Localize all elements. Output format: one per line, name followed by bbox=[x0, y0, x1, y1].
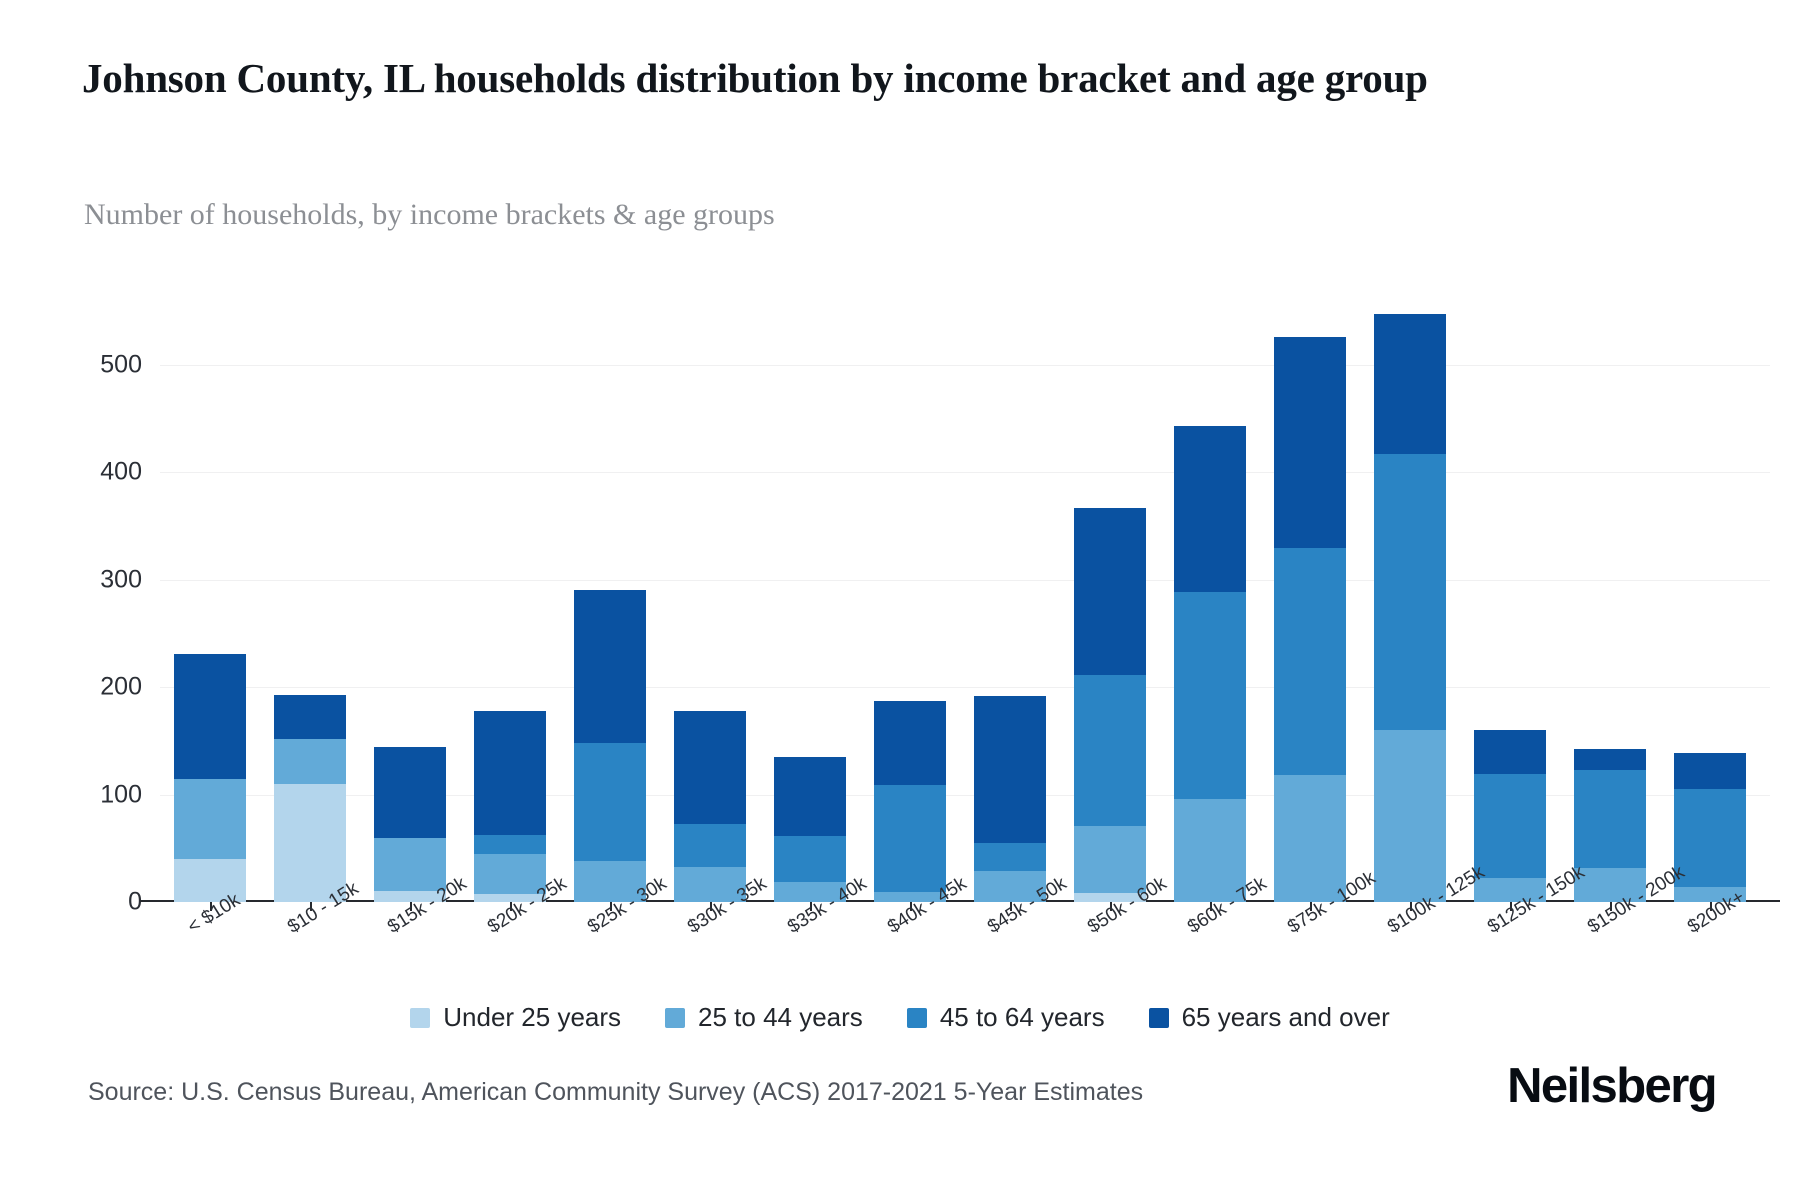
bar-segment[interactable] bbox=[1274, 337, 1346, 549]
brand-logo: Neilsberg bbox=[1507, 1058, 1716, 1114]
bar-stack[interactable] bbox=[974, 696, 1046, 902]
bar-segment[interactable] bbox=[1574, 770, 1646, 868]
bar-segment[interactable] bbox=[1274, 548, 1346, 775]
legend-swatch-icon bbox=[665, 1008, 685, 1028]
y-axis-tick-label: 500 bbox=[32, 350, 142, 379]
bar-segment[interactable] bbox=[474, 711, 546, 836]
bar-stack[interactable] bbox=[674, 711, 746, 902]
bar-stack[interactable] bbox=[1374, 314, 1446, 902]
y-axis-tick-label: 0 bbox=[32, 888, 142, 917]
bar-segment[interactable] bbox=[374, 747, 446, 837]
bar-segment[interactable] bbox=[874, 785, 946, 893]
legend-item[interactable]: 25 to 44 years bbox=[665, 1002, 863, 1033]
bar-segment[interactable] bbox=[174, 779, 246, 859]
y-axis-tick-label: 200 bbox=[32, 673, 142, 702]
legend-item[interactable]: Under 25 years bbox=[410, 1002, 621, 1033]
bar-stack[interactable] bbox=[274, 695, 346, 902]
bar-segment[interactable] bbox=[374, 838, 446, 892]
bar-segment[interactable] bbox=[1674, 789, 1746, 887]
legend-item[interactable]: 65 years and over bbox=[1149, 1002, 1390, 1033]
bar-stack[interactable] bbox=[774, 757, 846, 902]
bar-segment[interactable] bbox=[574, 743, 646, 861]
bar-segment[interactable] bbox=[1174, 592, 1246, 798]
y-axis-tick-label: 300 bbox=[32, 565, 142, 594]
bar-stack[interactable] bbox=[1174, 426, 1246, 902]
bar-segment[interactable] bbox=[1074, 675, 1146, 826]
bar-segment[interactable] bbox=[1474, 774, 1546, 878]
bar-segment[interactable] bbox=[1374, 454, 1446, 730]
legend-swatch-icon bbox=[907, 1008, 927, 1028]
plot-area: 0100200300400500 < $10k$10 - 15k$15k - 2… bbox=[160, 300, 1760, 902]
page-title: Johnson County, IL households distributi… bbox=[82, 52, 1642, 104]
bar-stack[interactable] bbox=[1274, 337, 1346, 902]
y-axis-tick-label: 100 bbox=[32, 780, 142, 809]
bar-segment[interactable] bbox=[1374, 730, 1446, 902]
bar-segment[interactable] bbox=[674, 824, 746, 867]
legend-swatch-icon bbox=[410, 1008, 430, 1028]
bar-stack[interactable] bbox=[174, 654, 246, 902]
bar-segment[interactable] bbox=[274, 695, 346, 739]
legend-item[interactable]: 45 to 64 years bbox=[907, 1002, 1105, 1033]
legend-item-label: 65 years and over bbox=[1182, 1002, 1390, 1033]
bar-segment[interactable] bbox=[1574, 749, 1646, 769]
bar-segment[interactable] bbox=[174, 654, 246, 780]
bar-segment[interactable] bbox=[574, 590, 646, 743]
bar-stack[interactable] bbox=[474, 711, 546, 902]
legend-item-label: 25 to 44 years bbox=[698, 1002, 863, 1033]
bar-series-container bbox=[160, 300, 1760, 902]
bar-segment[interactable] bbox=[774, 757, 846, 837]
bar-segment[interactable] bbox=[1474, 730, 1546, 774]
bar-segment[interactable] bbox=[674, 711, 746, 824]
bar-stack[interactable] bbox=[574, 590, 646, 902]
bar-stack[interactable] bbox=[874, 701, 946, 902]
bar-segment[interactable] bbox=[774, 836, 846, 881]
bar-segment[interactable] bbox=[874, 701, 946, 785]
chart-subtitle: Number of households, by income brackets… bbox=[84, 196, 1484, 234]
legend-swatch-icon bbox=[1149, 1008, 1169, 1028]
bar-stack[interactable] bbox=[374, 747, 446, 902]
bar-segment[interactable] bbox=[274, 784, 346, 902]
bar-segment[interactable] bbox=[974, 696, 1046, 843]
bar-segment[interactable] bbox=[1174, 426, 1246, 593]
bar-stack[interactable] bbox=[1074, 508, 1146, 903]
legend-item-label: Under 25 years bbox=[443, 1002, 621, 1033]
bar-segment[interactable] bbox=[274, 739, 346, 784]
bar-segment[interactable] bbox=[474, 835, 546, 853]
bar-segment[interactable] bbox=[1374, 314, 1446, 454]
bar-segment[interactable] bbox=[974, 843, 1046, 871]
y-axis-tick-label: 400 bbox=[32, 458, 142, 487]
chart-page: Johnson County, IL households distributi… bbox=[0, 0, 1800, 1200]
bar-segment[interactable] bbox=[1274, 775, 1346, 902]
source-note: Source: U.S. Census Bureau, American Com… bbox=[88, 1078, 1143, 1107]
legend-item-label: 45 to 64 years bbox=[940, 1002, 1105, 1033]
chart-legend: Under 25 years25 to 44 years45 to 64 yea… bbox=[0, 1002, 1800, 1033]
bar-segment[interactable] bbox=[1074, 826, 1146, 894]
bar-segment[interactable] bbox=[1074, 508, 1146, 676]
bar-segment[interactable] bbox=[1674, 753, 1746, 790]
